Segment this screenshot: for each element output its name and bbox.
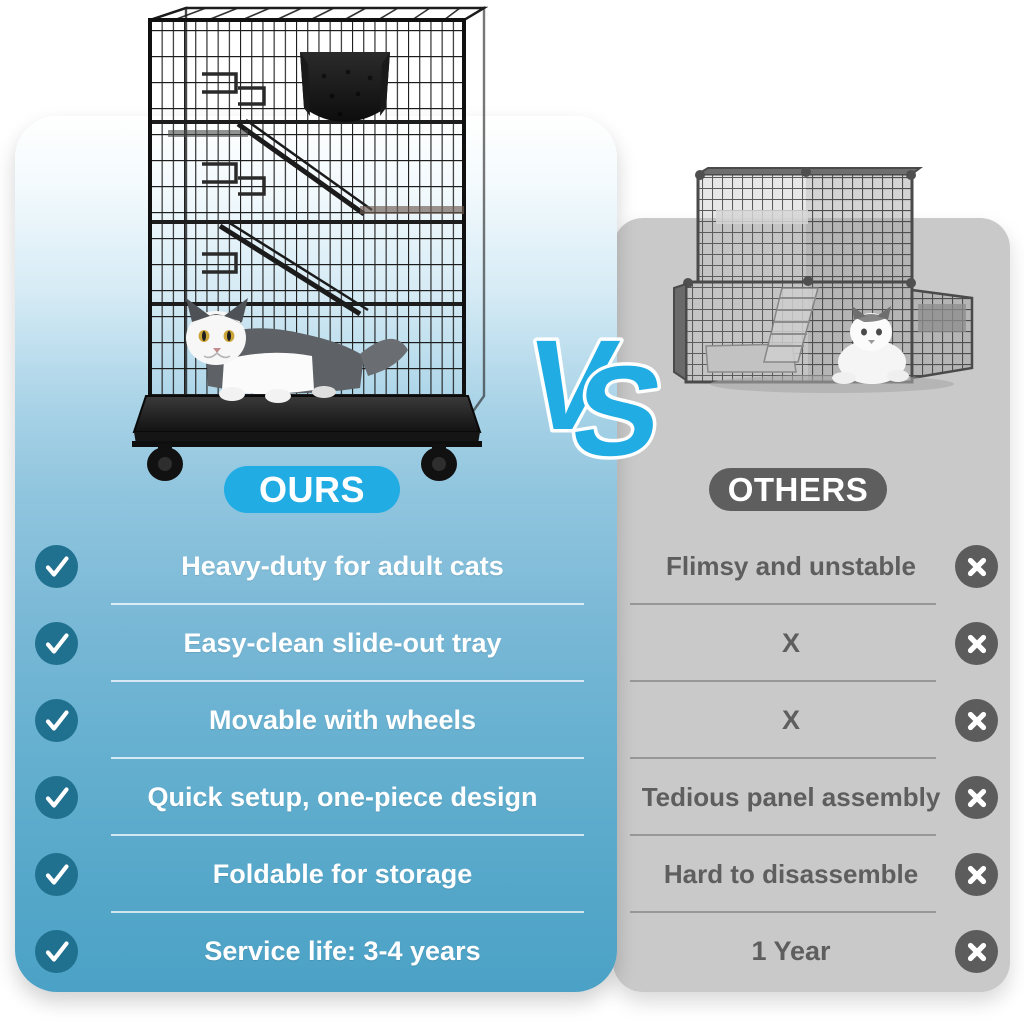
check-icon bbox=[35, 622, 78, 665]
check-icon bbox=[35, 776, 78, 819]
versus-label: VS bbox=[0, 0, 1, 1]
ours-feature-row: Service life: 3-4 years bbox=[15, 913, 617, 990]
ours-feature-row: Quick setup, one-piece design bbox=[15, 759, 617, 836]
others-feature-label: Tedious panel assembly bbox=[627, 783, 955, 811]
others-feature-row: Tedious panel assembly bbox=[613, 759, 1010, 836]
ours-feature-row: Easy-clean slide-out tray bbox=[15, 605, 617, 682]
ours-feature-label: Movable with wheels bbox=[78, 706, 593, 735]
ours-feature-row: Movable with wheels bbox=[15, 682, 617, 759]
ours-feature-label: Easy-clean slide-out tray bbox=[78, 629, 593, 658]
ours-feature-label: Foldable for storage bbox=[78, 860, 593, 889]
others-feature-row: Flimsy and unstable bbox=[613, 528, 1010, 605]
check-icon bbox=[35, 545, 78, 588]
comparison-infographic: V S VS OURS OTHERS Heavy-duty for adult … bbox=[0, 0, 1024, 1024]
others-feature-label: Hard to disassemble bbox=[627, 860, 955, 888]
x-icon bbox=[955, 622, 998, 665]
ours-title-pill: OURS bbox=[224, 466, 400, 513]
check-icon bbox=[35, 930, 78, 973]
x-icon bbox=[955, 699, 998, 742]
ours-feature-row: Foldable for storage bbox=[15, 836, 617, 913]
ours-feature-row: Heavy-duty for adult cats bbox=[15, 528, 617, 605]
x-icon bbox=[955, 545, 998, 588]
ours-feature-list: Heavy-duty for adult cats Easy-clean sli… bbox=[15, 528, 617, 988]
x-icon bbox=[955, 853, 998, 896]
ours-product-image bbox=[128, 4, 488, 482]
others-feature-row: X bbox=[613, 605, 1010, 682]
others-feature-label: 1 Year bbox=[627, 937, 955, 966]
x-icon bbox=[955, 930, 998, 973]
others-title-pill: OTHERS bbox=[709, 468, 887, 511]
others-product-image bbox=[672, 166, 992, 398]
ours-feature-label: Heavy-duty for adult cats bbox=[78, 552, 593, 581]
ours-feature-label: Service life: 3-4 years bbox=[78, 937, 593, 966]
others-title-label: OTHERS bbox=[728, 471, 869, 509]
others-feature-row: 1 Year bbox=[613, 913, 1010, 990]
others-feature-row: X bbox=[613, 682, 1010, 759]
x-icon bbox=[955, 776, 998, 819]
check-icon bbox=[35, 699, 78, 742]
ours-title-label: OURS bbox=[259, 469, 365, 511]
ours-feature-label: Quick setup, one-piece design bbox=[78, 783, 593, 812]
others-feature-label: Flimsy and unstable bbox=[627, 552, 955, 580]
check-icon bbox=[35, 853, 78, 896]
others-feature-label: X bbox=[627, 629, 955, 658]
others-feature-row: Hard to disassemble bbox=[613, 836, 1010, 913]
others-feature-label: X bbox=[627, 706, 955, 735]
others-feature-list: Flimsy and unstable X X Tedious panel as… bbox=[613, 528, 1010, 988]
